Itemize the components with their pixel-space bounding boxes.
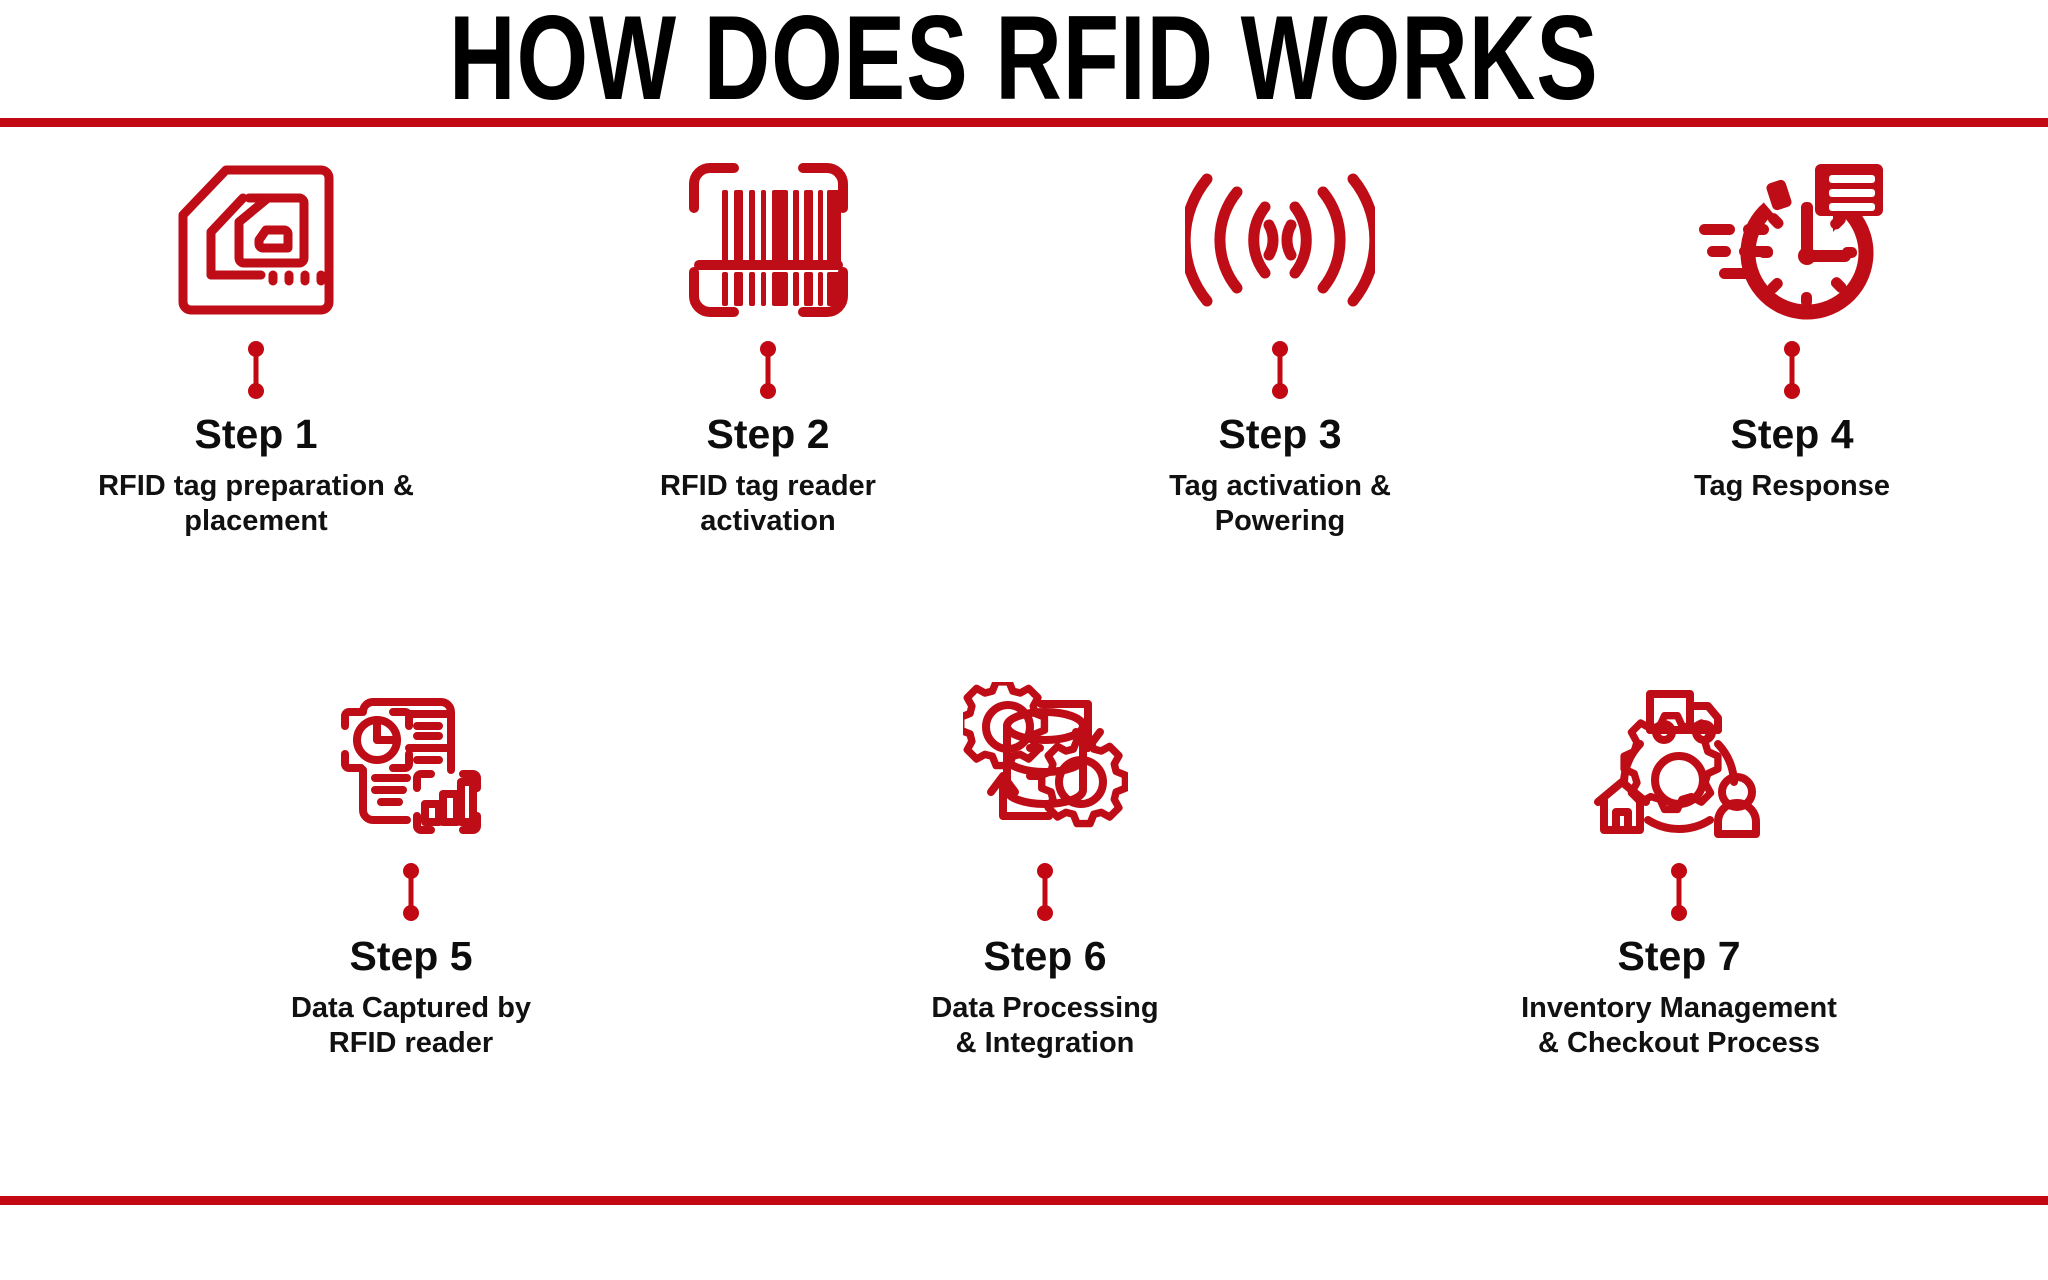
- step-description-line: Tag activation &: [1169, 469, 1391, 504]
- step-description: Tag activation & Powering: [1169, 469, 1391, 540]
- step-description-line: & Integration: [931, 1026, 1158, 1061]
- bottom-divider-rule: [0, 1196, 2048, 1205]
- step-title: Step 7: [1617, 934, 1740, 979]
- rfid-chip-icon: [161, 150, 351, 330]
- step-description-line: Data Processing: [931, 991, 1158, 1026]
- step-card-2[interactable]: Step 2 RFID tag reader activation: [512, 150, 1024, 540]
- connector-line-6: [1034, 862, 1056, 922]
- step-description: Tag Response: [1694, 469, 1890, 504]
- step-description-line: Powering: [1169, 504, 1391, 539]
- step-card-7[interactable]: Step 7 Inventory Management & Checkout P…: [1362, 672, 1996, 1062]
- connector-line-3: [1269, 340, 1291, 400]
- step-title: Step 1: [194, 412, 317, 457]
- step-title: Step 6: [983, 934, 1106, 979]
- step-description-line: RFID tag reader: [660, 469, 876, 504]
- step-description: Data Captured by RFID reader: [291, 991, 531, 1062]
- step-title: Step 5: [349, 934, 472, 979]
- page-title-text: HOW DOES RFID WORKS: [449, 0, 1599, 119]
- step-title: Step 2: [706, 412, 829, 457]
- connector-line-5: [400, 862, 422, 922]
- top-divider-rule: [0, 118, 2048, 127]
- supply-chain-icon: [1584, 672, 1774, 852]
- stopwatch-response-icon: [1697, 150, 1887, 330]
- step-description-line: placement: [98, 504, 414, 539]
- step-description-line: Data Captured by: [291, 991, 531, 1026]
- step-description-line: Tag Response: [1694, 469, 1890, 504]
- connector-line-1: [245, 340, 267, 400]
- page-title: HOW DOES RFID WORKS: [0, 0, 2048, 118]
- infographic-page: HOW DOES RFID WORKS: [0, 0, 2048, 1280]
- database-gears-icon: [950, 672, 1140, 852]
- data-report-icon: [316, 672, 506, 852]
- step-description-line: & Checkout Process: [1521, 1026, 1837, 1061]
- step-description-line: RFID reader: [291, 1026, 531, 1061]
- steps-row-bottom: Step 5 Data Captured by RFID reader: [94, 672, 1996, 1062]
- barcode-scanner-icon: [673, 150, 863, 330]
- step-description: RFID tag preparation & placement: [98, 469, 414, 540]
- step-card-6[interactable]: Step 6 Data Processing & Integration: [728, 672, 1362, 1062]
- step-description: RFID tag reader activation: [660, 469, 876, 540]
- step-card-3[interactable]: Step 3 Tag activation & Powering: [1024, 150, 1536, 540]
- step-title: Step 3: [1218, 412, 1341, 457]
- step-card-1[interactable]: Step 1 RFID tag preparation & placement: [0, 150, 512, 540]
- step-description-line: activation: [660, 504, 876, 539]
- step-description: Inventory Management & Checkout Process: [1521, 991, 1837, 1062]
- step-description-line: Inventory Management: [1521, 991, 1837, 1026]
- connector-line-4: [1781, 340, 1803, 400]
- connector-line-7: [1668, 862, 1690, 922]
- step-description-line: RFID tag preparation &: [98, 469, 414, 504]
- step-title: Step 4: [1730, 412, 1853, 457]
- step-card-5[interactable]: Step 5 Data Captured by RFID reader: [94, 672, 728, 1062]
- steps-row-top: Step 1 RFID tag preparation & placement: [0, 150, 2048, 540]
- rf-signal-waves-icon: [1185, 150, 1375, 330]
- step-card-4[interactable]: Step 4 Tag Response: [1536, 150, 2048, 540]
- step-description: Data Processing & Integration: [931, 991, 1158, 1062]
- connector-line-2: [757, 340, 779, 400]
